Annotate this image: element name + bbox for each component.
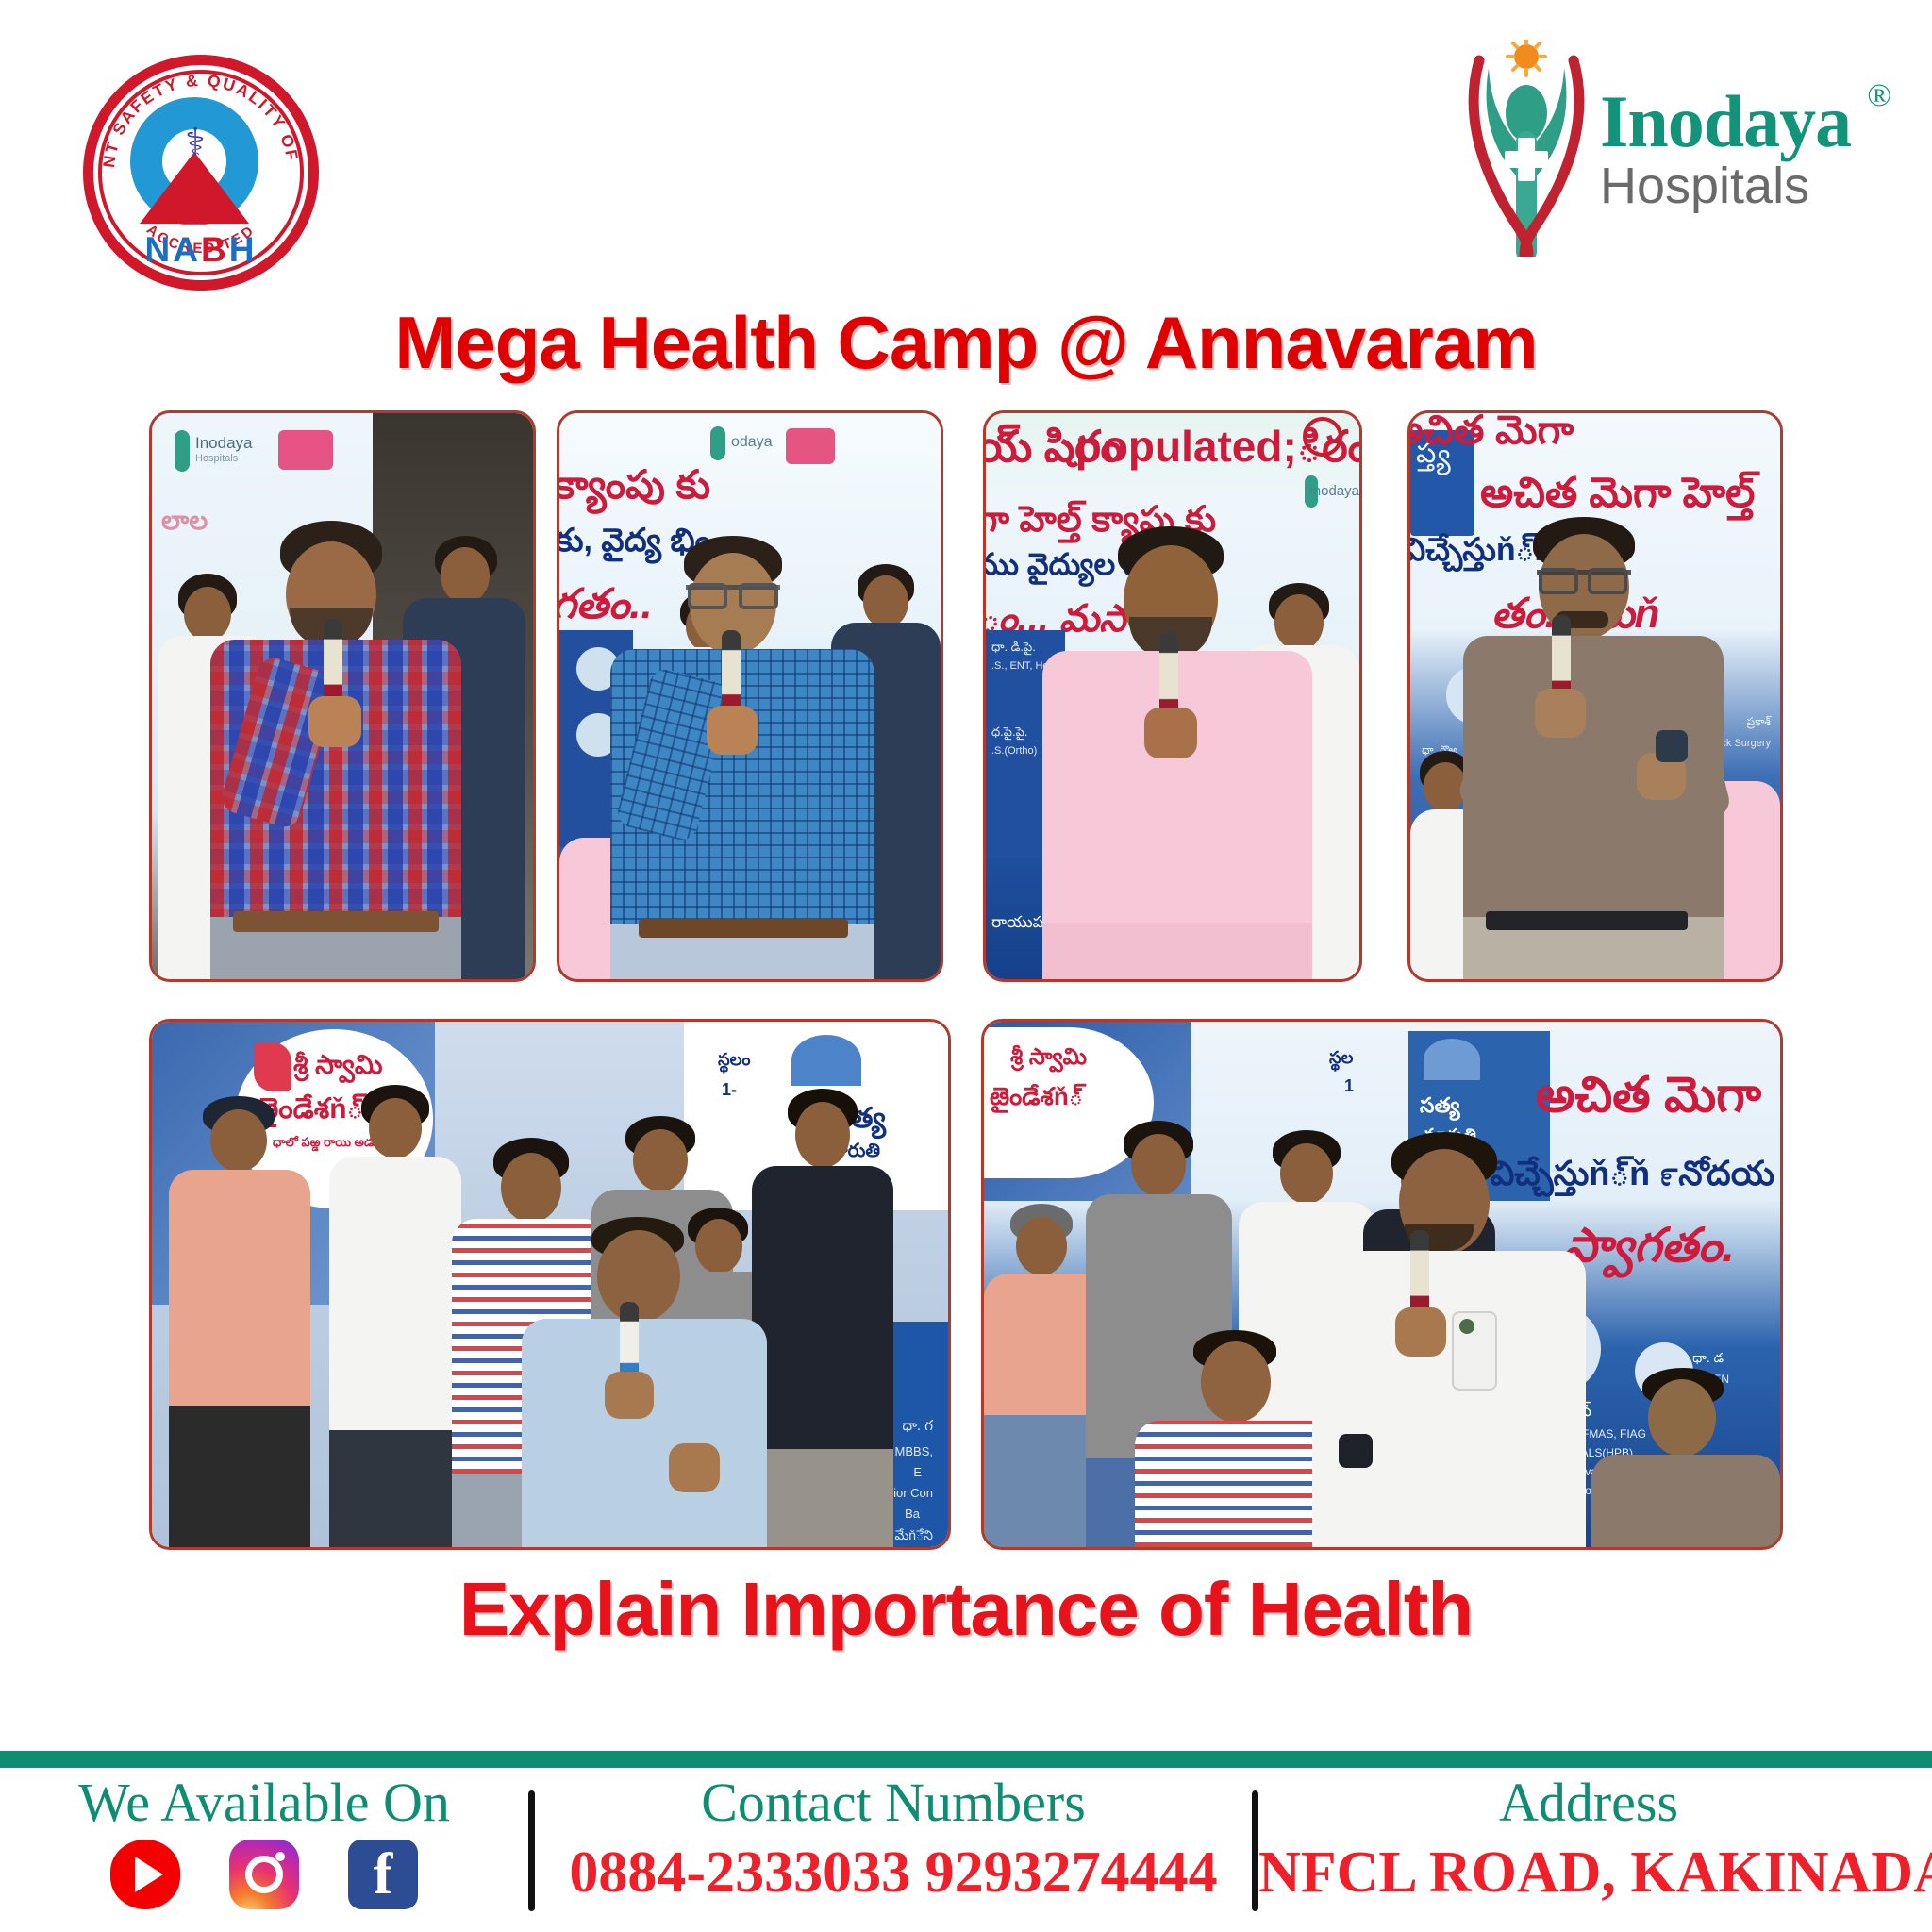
social-links: f: [0, 1840, 528, 1909]
footer-column-contact: Contact Numbers 0884-2333033 9293274444: [535, 1775, 1252, 1907]
photo-2: క్యాంపు కు కు, వైద్య భిం గతం.. odaya: [557, 410, 943, 982]
footer-accent-bar: [0, 1751, 1932, 1768]
registered-trademark-icon: ®: [1867, 81, 1890, 111]
nabh-accreditation-icon: PATIENT SAFETY & QUALITY OF CARE ACCREDI…: [83, 55, 319, 291]
footer-divider-1: [528, 1790, 535, 1911]
bottom-title: Explain Importance of Health: [0, 1566, 1932, 1653]
inodaya-figure-icon: [1460, 40, 1592, 257]
photo-grid-top: Inodaya Hospitals లాల: [0, 410, 1932, 989]
footer-column-socials: We Available On f: [0, 1775, 528, 1909]
poster-header: PATIENT SAFETY & QUALITY OF CARE ACCREDI…: [0, 0, 1932, 321]
poster-footer: We Available On f Contact Numbers 0884-2…: [0, 1775, 1932, 1932]
photo-1: Inodaya Hospitals లాల: [149, 410, 536, 982]
footer-divider-2: [1252, 1790, 1258, 1911]
footer-column-address: Address NFCL ROAD, KAKINADA: [1258, 1775, 1919, 1907]
socials-heading: We Available On: [0, 1775, 528, 1830]
photo-grid-bottom: శ్రీ స్వామి ఴైండేశň్ ధాలో పఱ్డ రాయి అడుగ…: [0, 1019, 1932, 1552]
brand-name: Inodaya®: [1600, 87, 1851, 157]
photo-3: య్ షిpopulated;ిరం య సి౉రం గా హెల్త్ క్…: [983, 410, 1362, 982]
inodaya-hospitals-logo: Inodaya® Hospitals: [1460, 40, 1857, 257]
brand-subtitle: Hospitals: [1600, 158, 1851, 214]
contact-numbers[interactable]: 0884-2333033 9293274444: [535, 1840, 1252, 1907]
photo-5: శ్రీ స్వామి ఴైండేశň్ ధాలో పఱ్డ రాయి అడుగ…: [149, 1019, 951, 1550]
facebook-icon[interactable]: f: [348, 1840, 418, 1909]
facebook-glyph: f: [374, 1845, 393, 1904]
instagram-icon[interactable]: [229, 1840, 299, 1909]
photo-4: ప్త్య అచిత మెగా అచిత మెగా హెల్త్ విచ్చేస…: [1407, 410, 1783, 982]
contact-heading: Contact Numbers: [535, 1775, 1252, 1830]
nabh-wordmark: NABH: [145, 230, 258, 270]
youtube-icon[interactable]: [110, 1840, 180, 1909]
address-value: NFCL ROAD, KAKINADA: [1258, 1840, 1919, 1907]
caduceus-icon: ⚕: [183, 114, 208, 175]
main-title: Mega Health Camp @ Annavaram: [0, 300, 1932, 386]
photo-6: శ్రీ స్వామి ఴైండేశň్ సత్య మారుతి స్థల 1 …: [981, 1019, 1783, 1550]
address-heading: Address: [1258, 1775, 1919, 1830]
